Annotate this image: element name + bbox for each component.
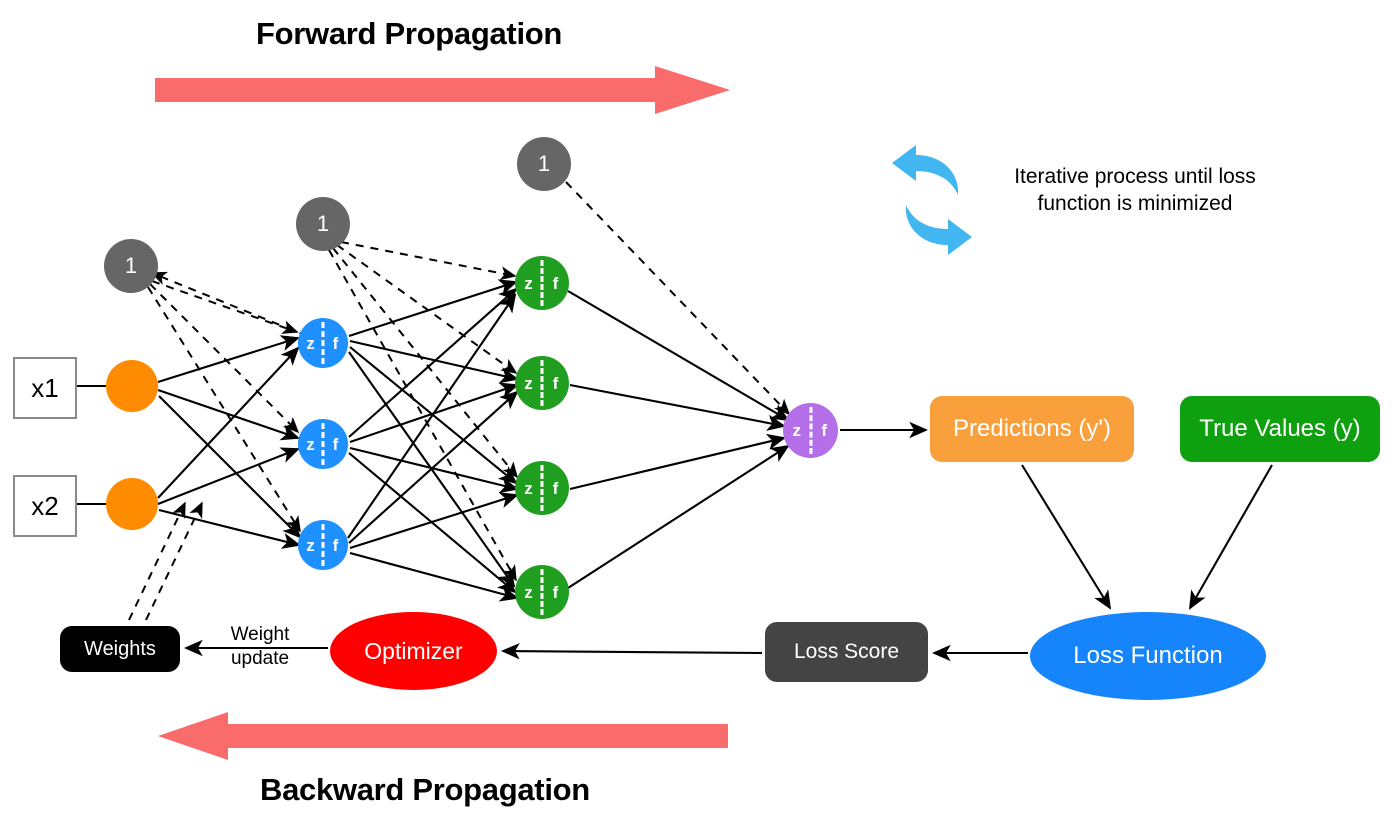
page-title-forward: Forward Propagation	[256, 16, 562, 52]
input-box-x2: x2	[13, 475, 77, 537]
hidden2-node-2-f: f	[542, 375, 569, 392]
output-node: z f	[783, 403, 838, 458]
node-divider	[809, 407, 812, 453]
page-title-backward: Backward Propagation	[260, 772, 590, 808]
weights-label: Weights	[84, 638, 156, 661]
hidden1-node-3: z f	[298, 520, 348, 570]
predictions-box: Predictions (y')	[930, 396, 1134, 462]
node-divider	[322, 524, 325, 566]
node-divider	[541, 569, 544, 614]
node-divider	[541, 360, 544, 405]
refresh-cycle-icon	[886, 145, 978, 255]
bias-node-layer2: 1	[296, 197, 350, 251]
loss-function-ellipse: Loss Function	[1030, 612, 1266, 700]
weights-box: Weights	[60, 626, 180, 672]
hidden1-node-2-f: f	[323, 436, 348, 453]
loss-function-label: Loss Function	[1073, 642, 1222, 670]
node-divider	[322, 322, 325, 364]
input-node-1	[106, 360, 158, 412]
node-divider	[322, 423, 325, 465]
predictions-box-label: Predictions (y')	[953, 415, 1111, 443]
hidden2-node-1-z: z	[515, 275, 542, 292]
hidden1-node-2: z f	[298, 419, 348, 469]
node-divider	[541, 260, 544, 305]
bias-node-layer1-label: 1	[125, 253, 137, 279]
iterative-process-note: Iterative process until loss function is…	[1000, 163, 1270, 217]
hidden2-node-4-z: z	[515, 584, 542, 601]
output-node-z: z	[783, 422, 811, 439]
hidden2-node-1: z f	[515, 256, 569, 310]
loss-score-box: Loss Score	[765, 622, 928, 682]
loss-score-label: Loss Score	[794, 640, 899, 664]
hidden2-node-2: z f	[515, 356, 569, 410]
hidden1-node-1: z f	[298, 318, 348, 368]
hidden2-node-3-z: z	[515, 480, 542, 497]
hidden1-node-1-f: f	[323, 335, 348, 352]
bias-node-output: 1	[517, 137, 571, 191]
input-box-x1-label: x1	[31, 373, 58, 404]
node-divider	[541, 465, 544, 510]
bias-node-layer2-label: 1	[317, 211, 329, 237]
hidden2-node-2-z: z	[515, 375, 542, 392]
backward-propagation-arrow	[158, 712, 728, 760]
input-box-x2-label: x2	[31, 491, 58, 522]
optimizer-label: Optimizer	[364, 638, 462, 665]
diagram-canvas: Forward Propagation Backward Propagation…	[0, 0, 1400, 823]
hidden2-node-4: z f	[515, 565, 569, 619]
hidden1-node-1-z: z	[298, 335, 323, 352]
hidden2-node-1-f: f	[542, 275, 569, 292]
input-node-2	[106, 478, 158, 530]
hidden2-node-3-f: f	[542, 480, 569, 497]
bias-node-output-label: 1	[538, 151, 550, 177]
optimizer-ellipse: Optimizer	[330, 612, 497, 690]
true-values-box-label: True Values (y)	[1199, 415, 1360, 443]
input-box-x1: x1	[13, 357, 77, 419]
bias-node-layer1: 1	[104, 239, 158, 293]
hidden2-node-4-f: f	[542, 584, 569, 601]
forward-propagation-arrow	[155, 66, 730, 114]
hidden1-node-2-z: z	[298, 436, 323, 453]
true-values-box: True Values (y)	[1180, 396, 1380, 462]
hidden1-node-3-f: f	[323, 537, 348, 554]
output-node-f: f	[811, 422, 839, 439]
hidden2-node-3: z f	[515, 461, 569, 515]
weight-update-label: Weight update	[212, 623, 308, 671]
hidden1-node-3-z: z	[298, 537, 323, 554]
